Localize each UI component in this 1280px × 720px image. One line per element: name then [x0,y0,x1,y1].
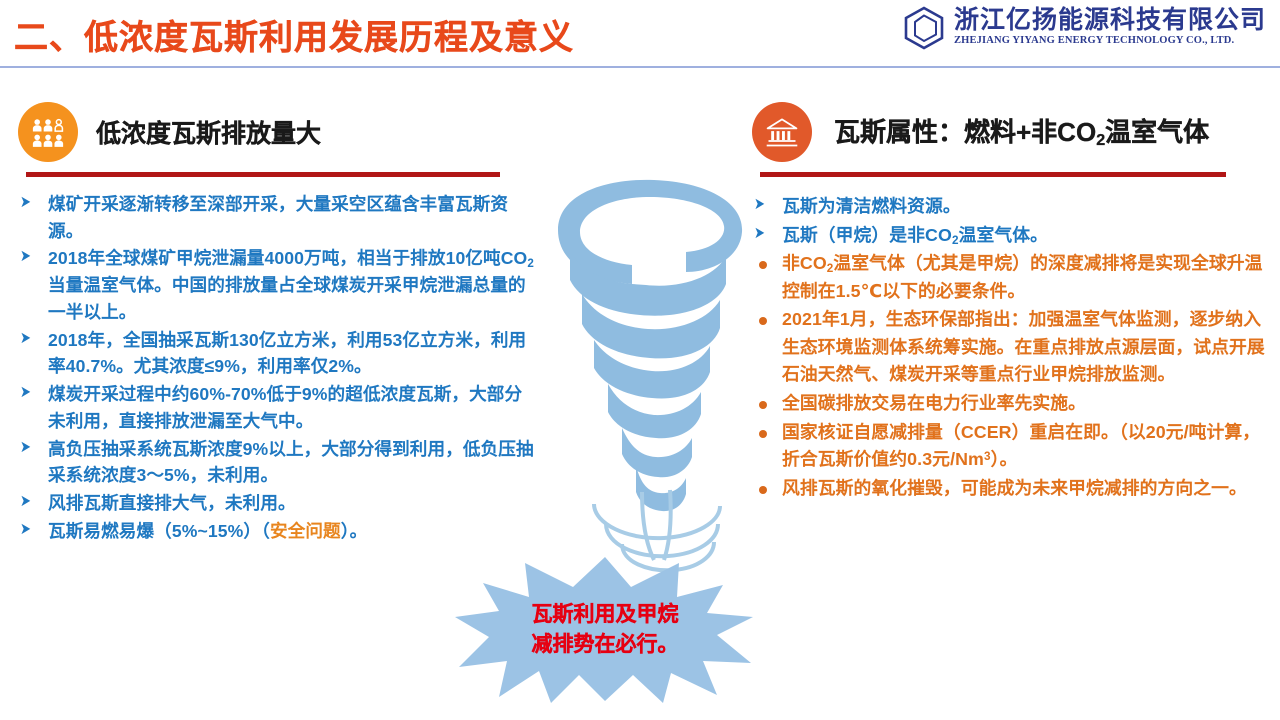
slide-header: 二、低浓度瓦斯利用发展历程及意义 浙江亿扬能源科技有限公司 ZHEJIANG Y… [0,0,1280,66]
right-bullet-list: 瓦斯为清洁燃料资源。 瓦斯（甲烷）是非CO2温室气体。 非CO2温室气体（尤其是… [752,193,1272,502]
left-column: 低浓度瓦斯排放量大 煤矿开采逐渐转移至深部开采，大量采空区蕴含丰富瓦斯资源。 2… [18,100,538,546]
starburst-callout: 瓦斯利用及甲烷 减排势在必行。 [455,555,755,705]
starburst-text: 瓦斯利用及甲烷 减排势在必行。 [455,555,755,705]
list-item: 国家核证自愿减排量（CCER）重启在即。（以20元/吨计算，折合瓦斯价值约0.3… [752,419,1272,474]
company-logo: 浙江亿扬能源科技有限公司 ZHEJIANG YIYANG ENERGY TECH… [903,6,1266,50]
list-item: 全国碳排放交易在电力行业率先实施。 [752,390,1272,418]
people-group-icon [18,102,78,162]
starburst-text-line2: 减排势在必行。 [532,630,679,660]
left-section-underline [26,172,500,177]
right-section-title: 瓦斯属性：燃料+非CO2温室气体 [834,112,1209,149]
right-section-underline [760,172,1226,177]
left-section-title: 低浓度瓦斯排放量大 [96,114,321,150]
list-item: 煤炭开采过程中约60%-70%低于9%的超低浓度瓦斯，大部分未利用，直接排放泄漏… [18,381,538,434]
header-divider [0,66,1280,68]
left-section-header: 低浓度瓦斯排放量大 [18,100,538,172]
list-item: 瓦斯为清洁燃料资源。 [752,193,1272,221]
page-title: 二、低浓度瓦斯利用发展历程及意义 [14,10,574,59]
list-item: 2021年1月，生态环保部指出：加强温室气体监测，逐步纳入生态环境监测体系统筹实… [752,306,1272,389]
list-item: 2018年，全国抽采瓦斯130亿立方米，利用53亿立方米，利用率40.7%。尤其… [18,327,538,380]
list-item: 非CO2温室气体（尤其是甲烷）的深度减排将是实现全球升温控制在1.5℃以下的必要… [752,250,1272,305]
list-item: 瓦斯（甲烷）是非CO2温室气体。 [752,222,1272,250]
list-item-text-pre: 瓦斯易燃易爆（5%~15%）（ [48,521,270,541]
right-title-pre: 瓦斯属性：燃料+非CO [834,117,1096,147]
right-title-sub: 2 [1096,131,1105,149]
list-item-highlight: 安全问题 [270,521,341,541]
right-column: 瓦斯属性：燃料+非CO2温室气体 瓦斯为清洁燃料资源。 瓦斯（甲烷）是非CO2温… [752,100,1272,503]
list-item: 风排瓦斯直接排大气，未利用。 [18,490,538,517]
logo-text-block: 浙江亿扬能源科技有限公司 ZHEJIANG YIYANG ENERGY TECH… [954,7,1266,48]
list-item: 高负压抽采系统瓦斯浓度9%以上，大部分得到利用，低负压抽采系统浓度3～5%，未利… [18,436,538,489]
tornado-graphic [536,172,766,592]
list-item: 2018年全球煤矿甲烷泄漏量4000万吨，相当于排放10亿吨CO2当量温室气体。… [18,245,538,325]
right-title-post: 温室气体 [1105,117,1209,147]
hexagon-logo-icon [903,6,945,50]
list-item: 瓦斯易燃易爆（5%~15%）（安全问题）。 [18,518,538,545]
slide-root: 二、低浓度瓦斯利用发展历程及意义 浙江亿扬能源科技有限公司 ZHEJIANG Y… [0,0,1280,720]
starburst-text-line1: 瓦斯利用及甲烷 [532,600,679,630]
left-bullet-list: 煤矿开采逐渐转移至深部开采，大量采空区蕴含丰富瓦斯资源。 2018年全球煤矿甲烷… [18,191,538,545]
list-item: 煤矿开采逐渐转移至深部开采，大量采空区蕴含丰富瓦斯资源。 [18,191,538,244]
list-item: 风排瓦斯的氧化摧毁，可能成为未来甲烷减排的方向之一。 [752,475,1272,503]
right-section-header: 瓦斯属性：燃料+非CO2温室气体 [752,100,1272,172]
list-item-text-post: ）。 [341,521,368,541]
logo-company-name-en: ZHEJIANG YIYANG ENERGY TECHNOLOGY CO., L… [954,34,1266,48]
logo-company-name-cn: 浙江亿扬能源科技有限公司 [954,7,1266,34]
bank-building-icon [752,102,812,162]
